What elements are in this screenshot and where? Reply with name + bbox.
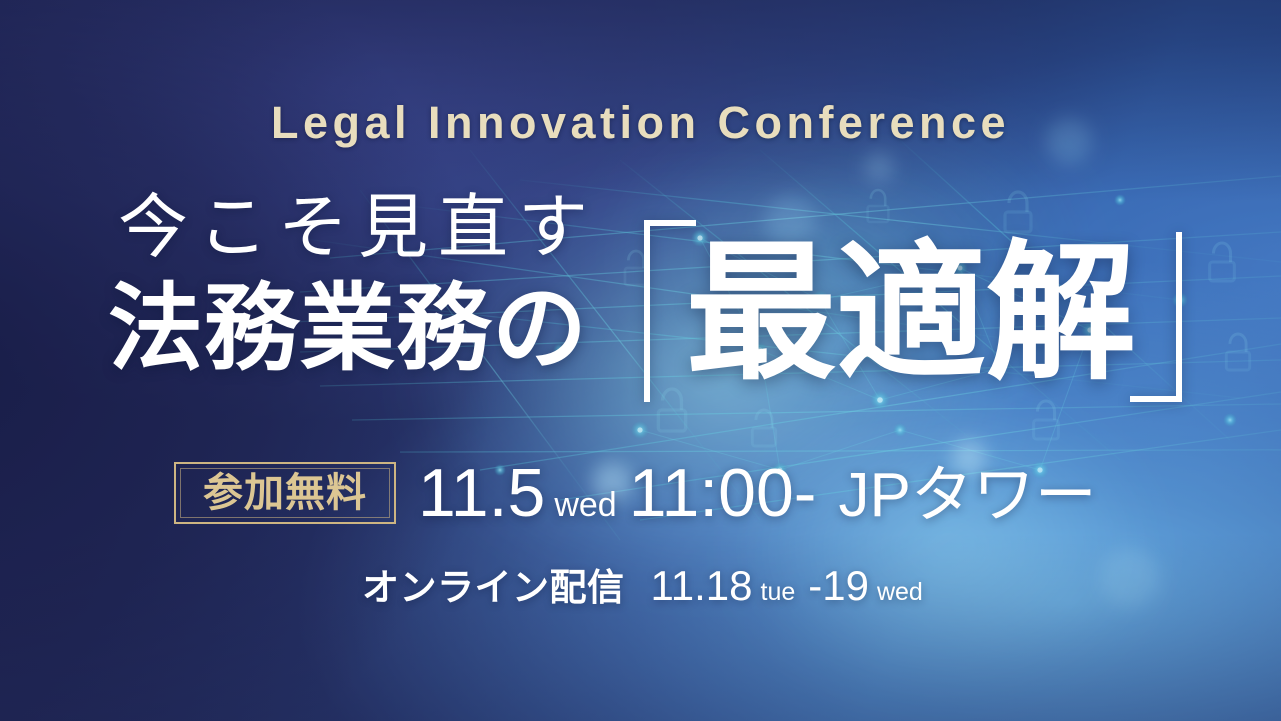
poster-content: Legal Innovation Conference 今こそ見直す 法務業務の… xyxy=(0,0,1281,721)
headline-emphasis: 最適解 xyxy=(686,238,1136,388)
headline-line-2: 法務業務の xyxy=(108,282,588,377)
conference-key-visual: Legal Innovation Conference 今こそ見直す 法務業務の… xyxy=(0,0,1281,721)
online-label: オンライン配信 xyxy=(362,569,625,606)
free-admission-badge: 参加無料 xyxy=(174,462,396,524)
onsite-date: 11.5 xyxy=(418,459,545,527)
onsite-venue: JPタワー xyxy=(838,465,1096,527)
free-admission-badge-label: 参加無料 xyxy=(203,473,367,513)
conference-name-eyebrow: Legal Innovation Conference xyxy=(0,100,1281,145)
onsite-day-of-week: wed xyxy=(554,488,616,522)
headline-line-1: 今こそ見直す xyxy=(118,192,598,262)
onsite-start-time: 11:00- xyxy=(629,459,817,527)
online-date-start: 11.18 xyxy=(651,565,753,607)
onsite-event-details: 11.5 wed 11:00- JPタワー xyxy=(418,459,1097,527)
online-day-start: tue xyxy=(761,580,796,605)
online-date-end: -19 xyxy=(808,565,869,607)
online-day-end: wed xyxy=(877,580,923,605)
quote-bracket-close-icon xyxy=(1130,232,1182,402)
online-event-details: オンライン配信 11.18 tue -19 wed xyxy=(362,565,923,607)
